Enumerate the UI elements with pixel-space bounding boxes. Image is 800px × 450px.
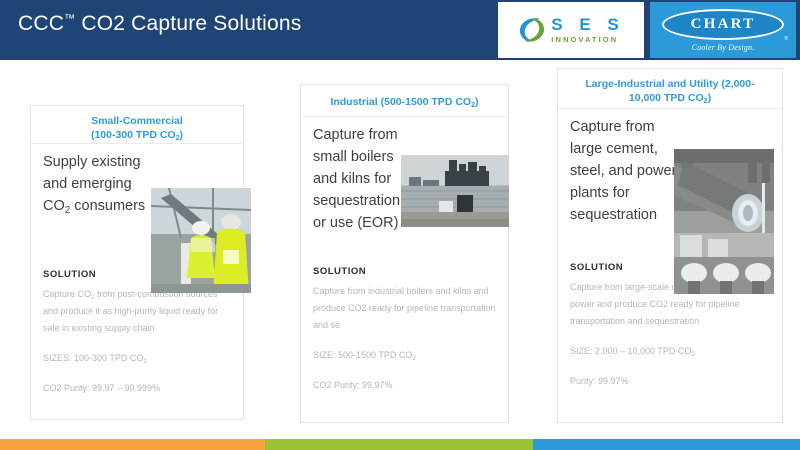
card-small-commercial-body: Supply existing and emerging CO2 consume… <box>31 144 243 419</box>
card1-size: SIZES: 100-300 TPD CO2 <box>43 350 231 367</box>
card3-photo <box>674 149 774 294</box>
card-industrial-body: Capture from small boilers and kilns for… <box>301 117 508 422</box>
card-small-commercial-heading: Small-Commercial (100-300 TPD CO2) <box>31 106 243 144</box>
blue-segment <box>533 439 800 450</box>
card3-size: SIZE: 2,000 – 10,000 TPD CO2 <box>570 343 770 360</box>
registered-mark-icon: ® <box>784 36 788 42</box>
page-title: CCC™ CO2 Capture Solutions <box>18 12 302 36</box>
card-large-industrial-body: Capture from large cement, steel, and po… <box>558 109 782 424</box>
card1-size-subscript: 2 <box>143 358 146 365</box>
ses-letters: S E S <box>551 16 624 33</box>
card2-size: SIZE: 500-1500 TPD CO2 <box>313 347 496 364</box>
card3-purity: Purity: 99.97% <box>570 373 770 390</box>
card2-heading-post: ) <box>475 96 479 108</box>
card1-lead-text: Supply existing and emerging CO2 consume… <box>43 151 151 217</box>
chart-wordmark: CHART <box>691 16 756 33</box>
card2-photo <box>401 155 509 227</box>
card-industrial-heading: Industrial (500-1500 TPD CO2) <box>301 85 508 117</box>
card1-purity: CO2 Purity: 99.97 – 99.999% <box>43 380 231 397</box>
card1-lead-subscript: 2 <box>65 205 70 216</box>
card3-heading-line2-pre: 10,000 TPD CO <box>629 92 704 104</box>
slide-header: CCC™ CO2 Capture Solutions S E S INNOVAT… <box>0 0 800 60</box>
card2-size-pre: SIZE: 500-1500 TPD CO <box>313 350 412 360</box>
card-small-commercial[interactable]: Small-Commercial (100-300 TPD CO2) <box>30 105 244 420</box>
card1-solution-text: Capture CO2 from post-combustion sources… <box>43 286 231 337</box>
card1-heading-line2-post: ) <box>180 129 184 141</box>
chart-logo: CHART ® Cooler By Design. <box>650 2 796 58</box>
ses-swirl-icon <box>517 15 547 45</box>
card1-heading-subscript: 2 <box>176 134 180 142</box>
card2-solution-text: Capture from industrial boilers and kiln… <box>313 283 496 334</box>
card-large-industrial-utility[interactable]: Large-Industrial and Utility (2,000- 10,… <box>557 68 783 423</box>
green-segment <box>265 439 533 450</box>
card2-purity: CO2 Purity: 99.97% <box>313 377 496 394</box>
card3-size-subscript: 2 <box>691 351 694 358</box>
card1-lead-post: consumers <box>70 198 145 214</box>
card3-lead-text: Capture from large cement, steel, and po… <box>570 116 682 226</box>
card1-size-pre: SIZES: 100-300 TPD CO <box>43 353 143 363</box>
orange-segment <box>0 439 265 450</box>
card1-solution-subscript: 2 <box>91 294 94 301</box>
slide-root: CCC™ CO2 Capture Solutions S E S INNOVAT… <box>0 0 800 450</box>
chart-oval-badge: CHART ® <box>662 9 784 40</box>
trademark-symbol: ™ <box>64 13 75 25</box>
card2-lead-text: Capture from small boilers and kilns for… <box>313 124 403 234</box>
card-industrial[interactable]: Industrial (500-1500 TPD CO2) <box>300 84 509 423</box>
card2-solution-label: SOLUTION <box>313 266 496 277</box>
card2-size-subscript: 2 <box>412 355 415 362</box>
chart-tagline: Cooler By Design. <box>692 43 755 52</box>
card3-heading-line1: Large-Industrial and Utility (2,000- <box>585 78 754 90</box>
card1-heading-line1: Small-Commercial <box>91 115 183 127</box>
ses-subtitle: INNOVATION <box>551 36 624 44</box>
ses-innovation-logo: S E S INNOVATION <box>498 2 644 58</box>
bottom-accent-bar <box>0 439 800 450</box>
card1-photo <box>151 188 251 293</box>
card3-size-pre: SIZE: 2,000 – 10,000 TPD CO <box>570 346 691 356</box>
card2-heading-pre: Industrial (500-1500 TPD CO <box>330 96 471 108</box>
card3-heading-line2-post: ) <box>708 92 712 104</box>
card3-heading-subscript: 2 <box>704 97 708 105</box>
card1-heading-line2-pre: (100-300 TPD CO <box>91 129 176 141</box>
card-large-industrial-heading: Large-Industrial and Utility (2,000- 10,… <box>558 69 782 109</box>
page-title-rest: CO2 Capture Solutions <box>75 12 301 35</box>
page-title-main: CCC <box>18 12 64 35</box>
card2-heading-subscript: 2 <box>471 101 475 109</box>
card1-solution-pre: Capture CO <box>43 289 91 299</box>
